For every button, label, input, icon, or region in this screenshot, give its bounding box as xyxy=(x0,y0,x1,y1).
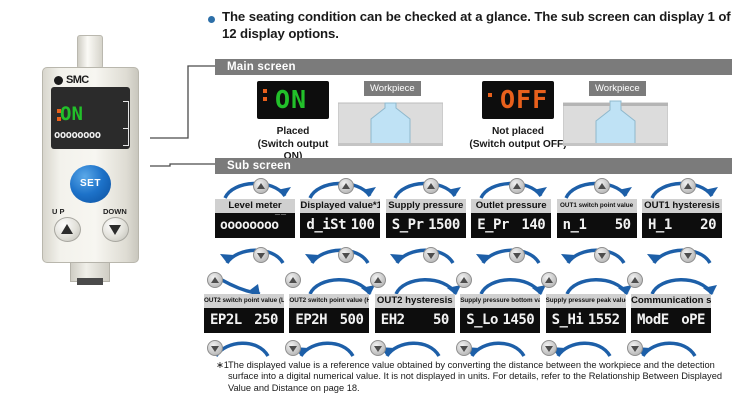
nav-down-button-1[interactable] xyxy=(253,247,269,263)
option-code: EP2L xyxy=(210,312,242,329)
nav-up-button-10[interactable] xyxy=(456,272,472,288)
option-lcd-display: S_Hi1552 xyxy=(546,308,626,333)
option-value: 100 xyxy=(351,217,375,234)
option-label: Supply pressure xyxy=(386,199,466,213)
workpiece-label-seated: Workpiece xyxy=(364,81,421,96)
option-code: E_Pr xyxy=(477,217,509,234)
nav-up-button-12[interactable] xyxy=(627,272,643,288)
sub-screen-option[interactable]: OUT1 switch point valuen_150 xyxy=(557,199,637,238)
nav-up-button-8[interactable] xyxy=(285,272,301,288)
option-lcd-display: S_Pr1500 xyxy=(386,213,466,238)
option-label: Displayed value*1 xyxy=(300,199,380,213)
down-button-label: DOWN xyxy=(103,207,127,216)
level-meter-top-segments-icon: ¯¯ xyxy=(275,213,287,223)
sub-screen-row1-back-arrows xyxy=(215,243,735,267)
option-lcd-display: d_iSt100 xyxy=(300,213,380,238)
footnote: ∗1 The displayed value is a reference va… xyxy=(228,360,728,394)
option-value: 20 xyxy=(700,217,716,234)
option-lcd-display: EP2L250 xyxy=(204,308,284,333)
nav-down-button-7[interactable] xyxy=(207,340,223,356)
nav-down-button-11[interactable] xyxy=(541,340,557,356)
option-lcd-display: S_Lo1450 xyxy=(460,308,540,333)
nav-up-button-5[interactable] xyxy=(594,178,610,194)
sub-screen-option[interactable]: Supply pressure peak valueS_Hi1552 xyxy=(546,294,626,333)
option-code: S_Hi xyxy=(552,312,584,329)
nav-up-button-11[interactable] xyxy=(541,272,557,288)
caption-off-line2: (Switch output OFF) xyxy=(468,139,568,152)
nav-up-button-1[interactable] xyxy=(253,178,269,194)
option-label: Outlet pressure xyxy=(471,199,551,213)
nav-down-button-5[interactable] xyxy=(594,247,610,263)
device-connector xyxy=(77,278,103,285)
sub-screen-option[interactable]: OUT2 switch point value (Low side)EP2L25… xyxy=(204,294,284,333)
option-label: OUT1 switch point value xyxy=(557,199,637,213)
leader-lines xyxy=(150,60,220,170)
sub-screen-option[interactable]: OUT2 hysteresisEH250 xyxy=(375,294,455,333)
option-lcd-display: oooooooo¯¯ xyxy=(215,213,295,238)
sub-screen-option[interactable]: Outlet pressureE_Pr140 xyxy=(471,199,551,238)
nav-up-button-4[interactable] xyxy=(509,178,525,194)
nav-up-button-2[interactable] xyxy=(338,178,354,194)
lcd-value-on: ON xyxy=(275,85,307,115)
nav-up-button-9[interactable] xyxy=(370,272,386,288)
device-top-port xyxy=(77,35,103,69)
option-label: OUT2 switch point value (High side) xyxy=(289,294,369,308)
intro-text: The seating condition can be checked at … xyxy=(222,8,732,42)
option-value: 250 xyxy=(254,312,278,329)
nav-down-button-6[interactable] xyxy=(680,247,696,263)
bullet-icon xyxy=(208,16,215,23)
sub-screen-option[interactable]: OUT1 hysteresisH_120 xyxy=(642,199,722,238)
main-screen-bracket-icon xyxy=(123,101,129,129)
intro-callout: The seating condition can be checked at … xyxy=(208,8,732,42)
nav-down-button-4[interactable] xyxy=(509,247,525,263)
option-lcd-display: H_120 xyxy=(642,213,722,238)
main-screen-header: Main screen xyxy=(215,59,732,75)
main-screen-case-on: ON Placed (Switch output ON) xyxy=(257,81,329,164)
sub-screen-header: Sub screen xyxy=(215,158,732,174)
option-value: 140 xyxy=(521,217,545,234)
set-button[interactable]: SET xyxy=(70,165,111,203)
footnote-text: The displayed value is a reference value… xyxy=(228,360,722,393)
option-label: Supply pressure bottom value xyxy=(460,294,540,308)
sub-screen-option[interactable]: Level meteroooooooo¯¯ xyxy=(215,199,295,238)
option-lcd-display: ModEoPE xyxy=(631,308,711,333)
lcd-value-off: OFF xyxy=(500,85,548,115)
nav-down-button-2[interactable] xyxy=(338,247,354,263)
nav-down-button-10[interactable] xyxy=(456,340,472,356)
workpiece-label-unseated: Workpiece xyxy=(589,81,646,96)
option-code: S_Lo xyxy=(466,312,498,329)
nav-down-button-9[interactable] xyxy=(370,340,386,356)
option-label: OUT2 switch point value (Low side) xyxy=(204,294,284,308)
sub-screen-option[interactable]: Supply pressure bottom valueS_Lo1450 xyxy=(460,294,540,333)
option-lcd-display: EP2H500 xyxy=(289,308,369,333)
device-down-button[interactable] xyxy=(102,217,129,242)
main-screen-case-off: OFF Not placed (Switch output OFF) xyxy=(482,81,554,151)
nav-up-button-7[interactable] xyxy=(207,272,223,288)
option-code: H_1 xyxy=(648,217,672,234)
caption-on-line1: Placed xyxy=(257,126,329,139)
sub-screen-row1-forward-arrows xyxy=(215,176,735,200)
indicator-dot-icon xyxy=(488,93,492,97)
workpiece-diagram-unseated: Workpiece xyxy=(563,81,668,147)
sub-screen-bracket-icon xyxy=(123,128,129,146)
option-lcd-display: EH250 xyxy=(375,308,455,333)
device-up-button[interactable] xyxy=(54,217,81,242)
option-lcd-display: n_150 xyxy=(557,213,637,238)
option-label: OUT1 hysteresis xyxy=(642,199,722,213)
option-value: 1500 xyxy=(428,217,460,234)
footnote-mark: ∗1 xyxy=(216,360,229,371)
option-label: Communication status xyxy=(631,294,711,308)
option-value: 1552 xyxy=(588,312,620,329)
lcd-display-on: ON xyxy=(257,81,329,119)
option-code: S_Pr xyxy=(392,217,424,234)
option-label: OUT2 hysteresis xyxy=(375,294,455,308)
sub-screen-option[interactable]: Displayed value*1d_iSt100 xyxy=(300,199,380,238)
option-value: 500 xyxy=(340,312,364,329)
option-label: Level meter xyxy=(215,199,295,213)
option-label: Supply pressure peak value xyxy=(546,294,626,308)
option-value: 50 xyxy=(433,312,449,329)
nav-down-button-8[interactable] xyxy=(285,340,301,356)
indicator-dot-2-icon xyxy=(263,97,267,101)
option-code: EP2H xyxy=(295,312,327,329)
sub-screen-option[interactable]: OUT2 switch point value (High side)EP2H5… xyxy=(289,294,369,333)
option-lcd-display: E_Pr140 xyxy=(471,213,551,238)
option-code: n_1 xyxy=(563,217,587,234)
nav-up-button-3[interactable] xyxy=(423,178,439,194)
workpiece-diagram-seated: Workpiece xyxy=(338,81,443,147)
nav-down-button-3[interactable] xyxy=(423,247,439,263)
nav-up-button-6[interactable] xyxy=(680,178,696,194)
device-sub-display: oooooooo xyxy=(54,129,101,141)
up-button-label: U P xyxy=(52,207,65,216)
indicator-dot-1-icon xyxy=(263,89,267,93)
option-code: d_iSt xyxy=(306,217,346,234)
nav-down-button-12[interactable] xyxy=(627,340,643,356)
smc-logo-mark-icon xyxy=(54,76,63,85)
option-code: ModE xyxy=(637,312,669,329)
caption-off-line1: Not placed xyxy=(482,126,554,139)
sub-screen-option[interactable]: Communication statusModEoPE xyxy=(631,294,711,333)
option-code: EH2 xyxy=(381,312,405,329)
option-value: 50 xyxy=(615,217,631,234)
sub-screen-option[interactable]: Supply pressureS_Pr1500 xyxy=(386,199,466,238)
lcd-display-off: OFF xyxy=(482,81,554,119)
option-value: 1450 xyxy=(502,312,534,329)
level-meter-value: oooooooo xyxy=(220,217,279,234)
option-value: oPE xyxy=(681,312,705,329)
smc-brand-label: SMC xyxy=(66,74,89,86)
device-main-display: ON xyxy=(60,103,83,125)
gap-checker-device: SMC GAP CHECKER ON oooooooo SET U P DOWN xyxy=(30,35,155,285)
